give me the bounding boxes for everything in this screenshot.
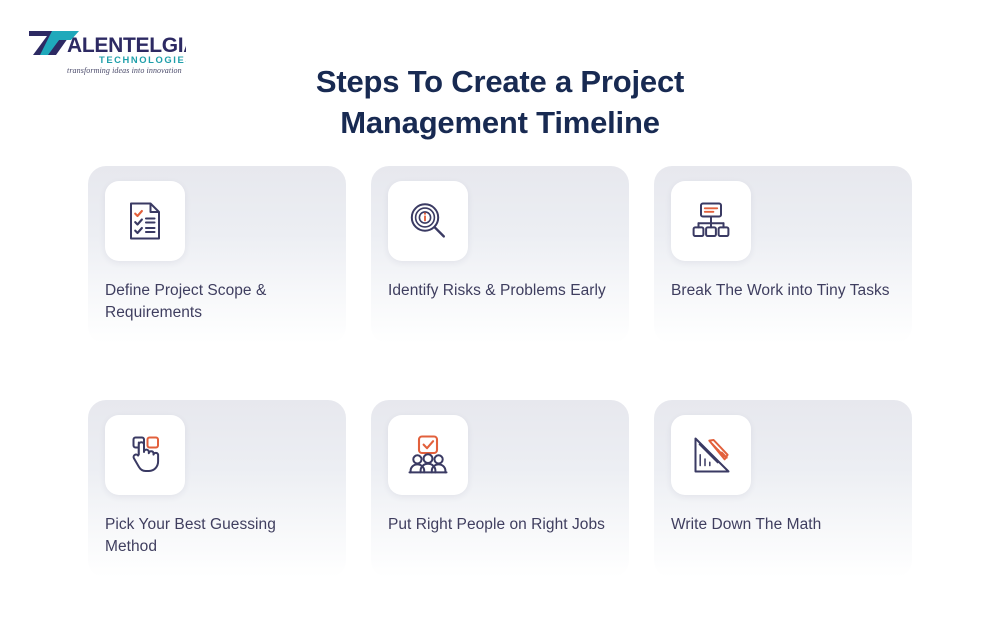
magnifier-info-icon <box>405 198 451 244</box>
people-checkbox-icon <box>405 432 451 478</box>
step-card-label: Put Right People on Right Jobs <box>388 514 629 536</box>
step-card-label: Break The Work into Tiny Tasks <box>671 280 912 302</box>
page-title-line-2: Management Timeline <box>250 102 750 143</box>
steps-grid: Define Project Scope & Requirements Iden… <box>88 166 912 578</box>
ruler-pencil-icon <box>688 432 734 478</box>
icon-tile <box>105 181 185 261</box>
icon-tile <box>671 181 751 261</box>
step-card-3[interactable]: Break The Work into Tiny Tasks <box>654 166 912 344</box>
step-card-label: Define Project Scope & Requirements <box>105 280 346 324</box>
icon-tile <box>671 415 751 495</box>
svg-text:transforming ideas into innova: transforming ideas into innovation <box>67 66 182 75</box>
hand-pointer-select-icon <box>122 432 168 478</box>
step-card-label: Identify Risks & Problems Early <box>388 280 629 302</box>
page-title: Steps To Create a Project Management Tim… <box>250 61 750 143</box>
step-card-label: Pick Your Best Guessing Method <box>105 514 346 558</box>
step-card-5[interactable]: Put Right People on Right Jobs <box>371 400 629 578</box>
step-card-2[interactable]: Identify Risks & Problems Early <box>371 166 629 344</box>
step-card-label: Write Down The Math <box>671 514 912 536</box>
brand-logo: ALENTELGIA TECHNOLOGIES transforming ide… <box>26 28 186 78</box>
step-card-6[interactable]: Write Down The Math <box>654 400 912 578</box>
icon-tile <box>105 415 185 495</box>
svg-text:TECHNOLOGIES: TECHNOLOGIES <box>99 54 186 65</box>
hierarchy-tree-icon <box>688 198 734 244</box>
icon-tile <box>388 415 468 495</box>
icon-tile <box>388 181 468 261</box>
document-checklist-icon <box>122 198 168 244</box>
step-card-1[interactable]: Define Project Scope & Requirements <box>88 166 346 344</box>
page-title-line-1: Steps To Create a Project <box>250 61 750 102</box>
step-card-4[interactable]: Pick Your Best Guessing Method <box>88 400 346 578</box>
